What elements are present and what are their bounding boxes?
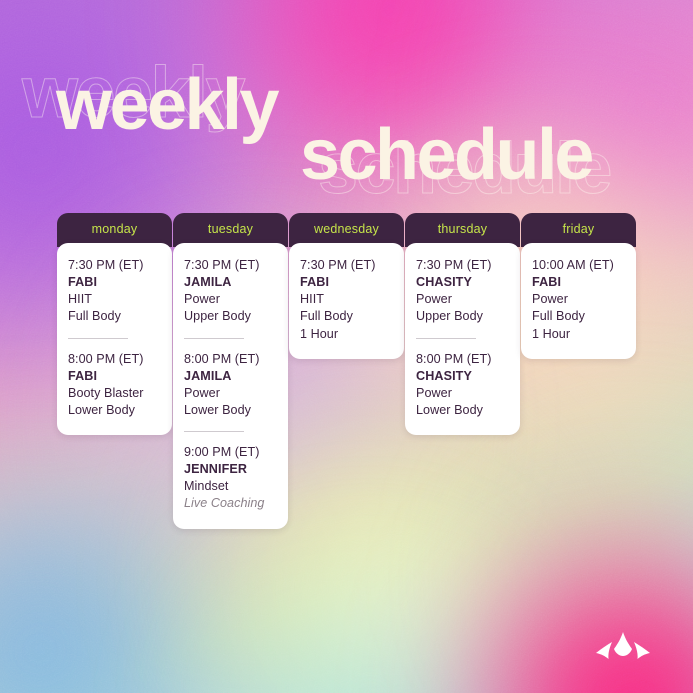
- session-extra: 1 Hour: [532, 326, 626, 343]
- gradient-blob-hotpink: [455, 540, 693, 693]
- session-time: 7:30 PM (ET): [184, 257, 278, 274]
- day-card-wednesday: 7:30 PM (ET)FABIHIITFull Body1 Hour: [289, 243, 404, 359]
- session-type: Power: [416, 385, 510, 402]
- session-focus: Full Body: [532, 308, 626, 325]
- session-coach: CHASITY: [416, 368, 510, 385]
- session-coach: JAMILA: [184, 274, 278, 291]
- session-time: 7:30 PM (ET): [68, 257, 162, 274]
- session-type: Power: [184, 385, 278, 402]
- session-item[interactable]: 8:00 PM (ET)CHASITYPowerLower Body: [416, 338, 510, 420]
- session-extra: 1 Hour: [300, 326, 394, 343]
- session-coach: FABI: [532, 274, 626, 291]
- weekly-schedule-poster: weekly schedule weekly schedule monday7:…: [0, 0, 693, 693]
- session-item[interactable]: 7:30 PM (ET)JAMILAPowerUpper Body: [184, 257, 278, 326]
- session-coach: FABI: [300, 274, 394, 291]
- day-column-wednesday: wednesday7:30 PM (ET)FABIHIITFull Body1 …: [289, 213, 404, 359]
- gradient-blob-mint: [190, 560, 550, 693]
- session-coach: CHASITY: [416, 274, 510, 291]
- session-type: HIIT: [68, 291, 162, 308]
- day-header-friday[interactable]: friday: [521, 213, 636, 247]
- session-item[interactable]: 8:00 PM (ET)JAMILAPowerLower Body: [184, 338, 278, 420]
- session-item[interactable]: 7:30 PM (ET)CHASITYPowerUpper Body: [416, 257, 510, 326]
- session-focus: Full Body: [68, 308, 162, 325]
- title-weekly: weekly: [56, 72, 277, 138]
- session-focus: Lower Body: [184, 402, 278, 419]
- session-time: 8:00 PM (ET): [68, 351, 162, 368]
- session-type: HIIT: [300, 291, 394, 308]
- session-item[interactable]: 8:00 PM (ET)FABIBooty BlasterLower Body: [68, 338, 162, 420]
- session-type: Mindset: [184, 478, 278, 495]
- session-time: 9:00 PM (ET): [184, 444, 278, 461]
- day-header-wednesday[interactable]: wednesday: [289, 213, 404, 247]
- day-header-monday[interactable]: monday: [57, 213, 172, 247]
- session-type: Power: [184, 291, 278, 308]
- day-column-friday: friday10:00 AM (ET)FABIPowerFull Body1 H…: [521, 213, 636, 359]
- day-column-thursday: thursday7:30 PM (ET)CHASITYPowerUpper Bo…: [405, 213, 520, 435]
- day-column-monday: monday7:30 PM (ET)FABIHIITFull Body8:00 …: [57, 213, 172, 435]
- day-header-thursday[interactable]: thursday: [405, 213, 520, 247]
- title-schedule: schedule: [300, 122, 592, 188]
- session-item[interactable]: 7:30 PM (ET)FABIHIITFull Body: [68, 257, 162, 326]
- session-focus: Full Body: [300, 308, 394, 325]
- session-focus: Upper Body: [416, 308, 510, 325]
- day-card-friday: 10:00 AM (ET)FABIPowerFull Body1 Hour: [521, 243, 636, 359]
- session-time: 8:00 PM (ET): [184, 351, 278, 368]
- lotus-crown-logo: [596, 632, 650, 666]
- day-card-tuesday: 7:30 PM (ET)JAMILAPowerUpper Body8:00 PM…: [173, 243, 288, 529]
- session-coach: FABI: [68, 274, 162, 291]
- session-time: 8:00 PM (ET): [416, 351, 510, 368]
- session-focus: Lower Body: [416, 402, 510, 419]
- day-column-tuesday: tuesday7:30 PM (ET)JAMILAPowerUpper Body…: [173, 213, 288, 529]
- session-type: Power: [532, 291, 626, 308]
- session-focus: Lower Body: [68, 402, 162, 419]
- session-item[interactable]: 10:00 AM (ET)FABIPowerFull Body1 Hour: [532, 257, 626, 343]
- session-coach: JAMILA: [184, 368, 278, 385]
- day-card-thursday: 7:30 PM (ET)CHASITYPowerUpper Body8:00 P…: [405, 243, 520, 435]
- poster-title: weekly schedule weekly schedule: [0, 0, 693, 212]
- session-type: Power: [416, 291, 510, 308]
- session-coach: JENNIFER: [184, 461, 278, 478]
- session-coach: FABI: [68, 368, 162, 385]
- session-type: Booty Blaster: [68, 385, 162, 402]
- session-time: 10:00 AM (ET): [532, 257, 626, 274]
- session-item[interactable]: 7:30 PM (ET)FABIHIITFull Body1 Hour: [300, 257, 394, 343]
- session-focus: Upper Body: [184, 308, 278, 325]
- session-item[interactable]: 9:00 PM (ET)JENNIFERMindsetLive Coaching: [184, 431, 278, 513]
- schedule-grid: monday7:30 PM (ET)FABIHIITFull Body8:00 …: [57, 213, 636, 529]
- session-time: 7:30 PM (ET): [300, 257, 394, 274]
- session-focus: Live Coaching: [184, 495, 278, 512]
- day-header-tuesday[interactable]: tuesday: [173, 213, 288, 247]
- day-card-monday: 7:30 PM (ET)FABIHIITFull Body8:00 PM (ET…: [57, 243, 172, 435]
- session-time: 7:30 PM (ET): [416, 257, 510, 274]
